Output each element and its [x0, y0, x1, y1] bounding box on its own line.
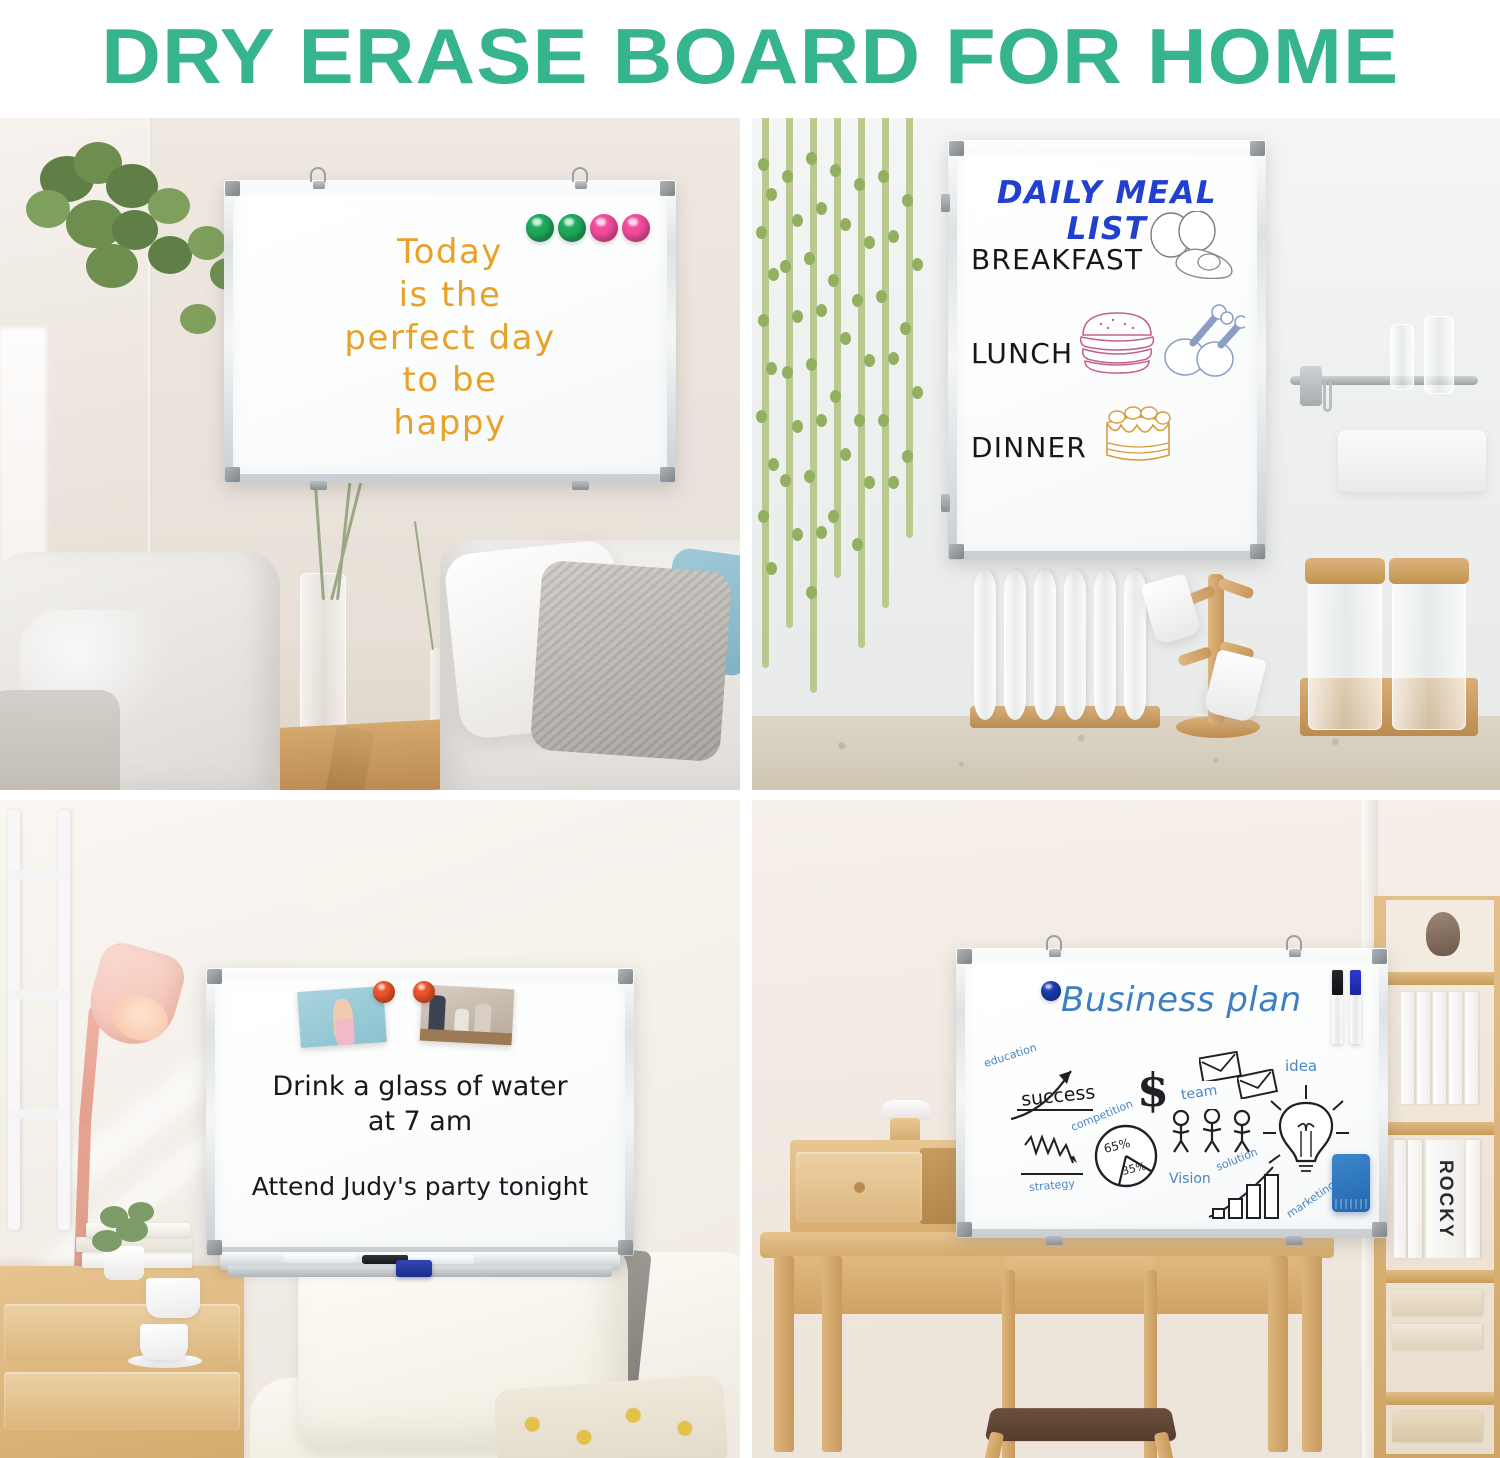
hanging-plants	[756, 118, 946, 738]
dollar-sign-icon: $	[1137, 1063, 1169, 1117]
frame-corner	[618, 969, 633, 984]
shelf	[1386, 1392, 1494, 1405]
leaf-bead	[782, 170, 793, 183]
nightstand-drawer[interactable]	[4, 1304, 240, 1362]
frame-corner	[207, 1240, 222, 1255]
whiteboard-bedroom[interactable]: Drink a glass of water at 7 am Attend Ju…	[206, 968, 634, 1256]
whiteboard-study[interactable]: Business plan education success	[956, 948, 1388, 1238]
magnet-green-2[interactable]	[558, 214, 586, 242]
marker-blue[interactable]	[1350, 970, 1361, 1044]
frame-clip	[941, 194, 950, 212]
plate	[1034, 570, 1056, 720]
plant-leaf	[148, 188, 190, 224]
hanging-hook-icon	[1286, 935, 1302, 950]
frame-corner	[957, 1222, 972, 1237]
drumstick-icon	[1159, 301, 1245, 381]
panel-kitchen: DAILY MEAL LIST BREAKFAST LUNCH	[752, 118, 1500, 790]
leaf-bead	[854, 414, 865, 427]
hamburger-icon	[1075, 307, 1159, 377]
whiteboard-note-line-2: Attend Judy's party tonight	[215, 1173, 625, 1201]
leaf-bead	[806, 586, 817, 599]
page-title: DRY ERASE BOARD FOR HOME	[101, 17, 1399, 95]
leaf-bead	[878, 414, 889, 427]
plant-leaf	[180, 304, 216, 334]
panel-living-room: Today is the perfect day to be happy	[0, 118, 740, 790]
plant-leaf	[100, 1206, 128, 1228]
armchair-arm	[0, 690, 120, 790]
leaf-bead	[780, 474, 791, 487]
vine	[762, 118, 769, 668]
whiteboard-living-room[interactable]: Today is the perfect day to be happy	[224, 180, 676, 483]
frame-corner	[660, 467, 675, 482]
glass-bottle	[1424, 316, 1454, 394]
leaf-bead	[864, 476, 875, 489]
plant-leaf	[128, 1202, 154, 1222]
ladder-step	[8, 1110, 70, 1119]
eraser-blue[interactable]	[396, 1260, 432, 1277]
wall-shelf	[1338, 430, 1486, 492]
plant-leaf	[26, 190, 70, 228]
zigzag-chart-icon	[1023, 1133, 1085, 1173]
leaf-bead	[852, 538, 863, 551]
whiteboard-note-line-1: Drink a glass of water at 7 am	[215, 1069, 625, 1139]
leaf-bead	[780, 260, 791, 273]
desk-leg	[822, 1256, 842, 1452]
jar-lid	[1389, 558, 1469, 584]
shelf	[1386, 972, 1494, 985]
frame-clip	[941, 494, 950, 512]
meal-label: LUNCH	[971, 337, 1073, 370]
leaf-bead	[758, 158, 769, 171]
leaf-bead	[876, 290, 887, 303]
magnet-pink-2[interactable]	[622, 214, 650, 242]
rail-bracket	[1300, 366, 1322, 406]
chair-seat	[984, 1408, 1177, 1441]
leaf-bead	[830, 164, 841, 177]
shelf	[1386, 1122, 1494, 1135]
frame-corner	[1372, 1222, 1387, 1237]
chair-back	[1004, 1256, 1154, 1292]
frame-clip	[572, 481, 589, 490]
frame-corner	[207, 969, 222, 984]
leaf-bead	[756, 410, 767, 423]
photo-subject-dress	[335, 1018, 355, 1045]
decor-vase	[1426, 912, 1460, 956]
doodle-label-team: team	[1180, 1083, 1218, 1104]
vine	[858, 118, 865, 648]
doodle-label-idea: idea	[1285, 1057, 1317, 1075]
photo-table	[420, 1029, 513, 1046]
teacup	[140, 1324, 188, 1360]
leaf-bead	[758, 510, 769, 523]
leaf-bead	[864, 354, 875, 367]
meal-label: BREAKFAST	[971, 243, 1143, 276]
leaf-bead	[804, 252, 815, 265]
desk-leg	[1268, 1256, 1288, 1452]
book-spine	[1394, 1140, 1406, 1258]
storage-box	[1392, 1324, 1482, 1350]
frame-corner	[225, 181, 240, 196]
strategy-underline	[1021, 1173, 1083, 1175]
plate	[974, 570, 996, 720]
patterned-throw	[493, 1374, 729, 1458]
drawer-knob[interactable]	[854, 1182, 865, 1193]
marker-black[interactable]	[1332, 970, 1343, 1044]
leaf-bead	[900, 322, 911, 335]
leaf-bead	[792, 214, 803, 227]
leaf-bead	[816, 304, 827, 317]
leaf-bead	[854, 178, 865, 191]
meal-label: DINNER	[971, 431, 1087, 464]
vine	[834, 118, 841, 578]
whiteboard-surface[interactable]: Drink a glass of water at 7 am Attend Ju…	[215, 977, 625, 1247]
frame-clip	[310, 481, 327, 490]
panel-grid: Today is the perfect day to be happy	[0, 112, 1500, 1458]
leaf-bead	[888, 230, 899, 243]
book-spine	[1466, 1140, 1480, 1258]
frame-corner	[949, 544, 964, 559]
marker-cap	[1332, 970, 1343, 995]
plate	[1094, 570, 1116, 720]
leaf-bead	[912, 386, 923, 399]
whiteboard-note-text: Today is the perfect day to be happy	[233, 231, 667, 445]
magnet-blue[interactable]	[1041, 981, 1061, 1001]
leaf-bead	[768, 458, 779, 471]
magnet-orange-2[interactable]	[413, 981, 435, 1003]
ladder-step	[8, 990, 70, 999]
meal-row-lunch: LUNCH	[971, 337, 1073, 370]
meal-row-breakfast: BREAKFAST	[971, 243, 1143, 276]
leaf-bead	[902, 194, 913, 207]
plant-leaf	[148, 236, 192, 274]
glass-bottle	[1390, 324, 1414, 390]
pie-chart-icon: 65% 35%	[1093, 1123, 1159, 1189]
whiteboard-kitchen[interactable]: DAILY MEAL LIST BREAKFAST LUNCH	[948, 140, 1266, 560]
plate	[1064, 570, 1086, 720]
book-spine	[1401, 992, 1414, 1104]
nightstand-drawer[interactable]	[4, 1372, 240, 1430]
leaf-bead	[758, 314, 769, 327]
leaf-bead	[852, 294, 863, 307]
leaf-bead	[792, 528, 803, 541]
ladder-shelf	[8, 810, 70, 1230]
leaf-bead	[828, 510, 839, 523]
sofa-cushion-grey	[530, 560, 733, 763]
book-spine	[1408, 1140, 1422, 1258]
frame-corner	[949, 141, 964, 156]
plant-leaf	[188, 226, 226, 260]
ladder-step	[8, 870, 70, 879]
leaf-bead	[902, 450, 913, 463]
shelf	[1386, 1270, 1494, 1283]
leaf-bead	[816, 414, 827, 427]
leaf-bead	[888, 352, 899, 365]
panel-study: ROCKY Business plan education	[752, 800, 1500, 1458]
leaf-bead	[840, 448, 851, 461]
frame-corner	[957, 949, 972, 964]
leaf-bead	[806, 358, 817, 371]
frame-corner	[618, 1240, 633, 1255]
book-spine	[1449, 992, 1462, 1104]
leaf-bead	[912, 258, 923, 271]
doodle-label-strategy: strategy	[1029, 1177, 1076, 1194]
table-lamp-shade	[880, 1100, 932, 1120]
frame-corner	[1372, 949, 1387, 964]
leaf-bead	[878, 170, 889, 183]
frame-corner	[660, 181, 675, 196]
marker-cap	[1350, 970, 1361, 995]
desk-leg	[1302, 1256, 1322, 1452]
plant-leaf	[86, 244, 138, 288]
whiteboard-title: Business plan	[1061, 981, 1302, 1019]
frame-clip	[1046, 1236, 1063, 1245]
fried-egg-icon	[1143, 211, 1245, 279]
success-underline	[1017, 1109, 1093, 1111]
rail-hook-icon	[1323, 382, 1332, 412]
leaf-bead	[766, 362, 777, 375]
book-spine-rocky: ROCKY	[1426, 1140, 1464, 1258]
desk-leg	[774, 1256, 794, 1452]
book-spine-title: ROCKY	[1434, 1160, 1456, 1239]
eraser-blue[interactable]	[1332, 1154, 1370, 1212]
leaf-bead	[840, 332, 851, 345]
book-spine	[1417, 992, 1430, 1104]
leaf-bead	[756, 226, 767, 239]
panel-bedroom: Drink a glass of water at 7 am Attend Ju…	[0, 800, 740, 1458]
leaf-bead	[782, 366, 793, 379]
storage-box	[1392, 1290, 1482, 1316]
glass-jar	[1308, 578, 1382, 730]
leaf-bead	[840, 218, 851, 231]
leaf-bead	[828, 274, 839, 287]
frame-corner	[1250, 544, 1265, 559]
storage-box	[1392, 1412, 1482, 1442]
leaf-bead	[768, 268, 779, 281]
leaf-bead	[888, 476, 899, 489]
meal-row-dinner: DINNER	[971, 431, 1087, 464]
leaf-bead	[816, 202, 827, 215]
marker-white[interactable]	[284, 1254, 356, 1263]
glass-jar	[1392, 578, 1466, 730]
product-collage: DRY ERASE BOARD FOR HOME	[0, 0, 1500, 1458]
whiteboard-surface[interactable]: Business plan education success	[965, 957, 1379, 1229]
magnet-orange-1[interactable]	[373, 981, 395, 1003]
leaf-bead	[864, 236, 875, 249]
whiteboard-surface[interactable]: DAILY MEAL LIST BREAKFAST LUNCH	[957, 149, 1257, 551]
magnet-green-1[interactable]	[526, 214, 554, 242]
leaf-bead	[766, 562, 777, 575]
plate	[1004, 570, 1026, 720]
hanging-hook-icon	[1046, 935, 1062, 950]
frame-corner	[1250, 141, 1265, 156]
header-banner: DRY ERASE BOARD FOR HOME	[0, 0, 1500, 112]
leaf-bead	[766, 188, 777, 201]
vine	[882, 118, 889, 608]
teacup	[146, 1278, 200, 1318]
book-spine	[1433, 992, 1446, 1104]
magnet-pink-1[interactable]	[590, 214, 618, 242]
frame-clip	[1286, 1236, 1303, 1245]
jar-lid	[1305, 558, 1385, 584]
book-spine	[1465, 992, 1478, 1104]
hanging-hook-icon	[310, 167, 326, 182]
leaf-bead	[804, 470, 815, 483]
leaf-bead	[830, 390, 841, 403]
window-light	[0, 328, 46, 588]
leaf-bead	[792, 420, 803, 433]
frame-corner	[225, 467, 240, 482]
leaf-bead	[792, 310, 803, 323]
leaf-bead	[806, 152, 817, 165]
cake-icon	[1099, 397, 1177, 467]
leaf-bead	[816, 526, 827, 539]
hanging-hook-icon	[572, 167, 588, 182]
